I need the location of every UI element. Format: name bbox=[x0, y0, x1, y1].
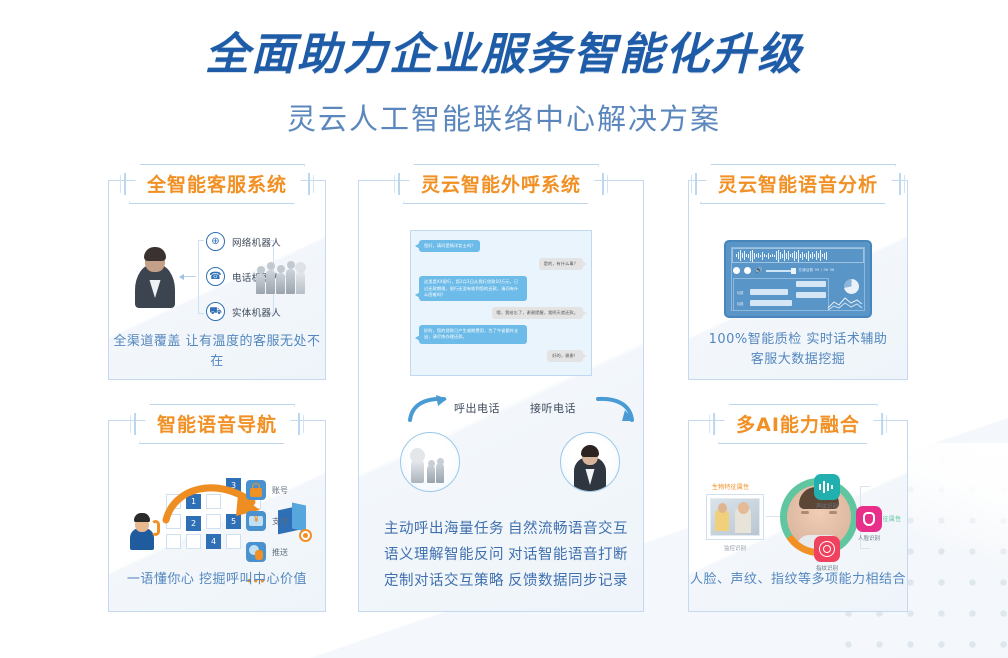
grid-node: 4 bbox=[206, 534, 221, 549]
telephone-icon: ☎ bbox=[206, 267, 225, 286]
globe-icon: ⊕ bbox=[206, 232, 225, 251]
inbound-arrow-icon bbox=[592, 394, 636, 422]
play-button[interactable] bbox=[733, 267, 740, 274]
chat-bubble: 这里是XX银行，您2月1日从我行贷款10万元，已过还款期限，银行还没有收到您的还… bbox=[419, 276, 527, 301]
chat-bubble: 您好，请问是杨洋女士吗？ bbox=[419, 240, 480, 252]
card-multi-ai[interactable]: 多AI能力融合 生物特征属性 监控识别 生物特征属性 bbox=[688, 420, 908, 612]
card-title-badge-group: 多AI能力融合 bbox=[709, 404, 887, 444]
chat-bubble: 好的，谢谢！ bbox=[547, 350, 583, 362]
feature-item: 对话智能语音打断 bbox=[506, 542, 630, 568]
card-outbound-call[interactable]: 灵云智能外呼系统 您好，请问是杨洋女士吗？ 是的，有什么事？ 这里是XX银行，您… bbox=[358, 180, 644, 612]
robot-agent-avatar bbox=[400, 432, 460, 492]
voiceprint-icon[interactable] bbox=[814, 474, 840, 500]
left-bracket bbox=[198, 240, 204, 314]
arrow-to-agent bbox=[180, 276, 196, 277]
page-subtitle: 灵云人工智能联络中心解决方案 bbox=[0, 96, 1008, 138]
line-chart bbox=[827, 295, 863, 311]
feature-item: 主动呼出海量任务 bbox=[382, 516, 506, 542]
row-label: 标题 bbox=[737, 301, 743, 306]
card-caption: 一语懂你心 挖掘呼叫中心价值 bbox=[108, 570, 326, 590]
card-caption: 人脸、声纹、指纹等多项能力相结合 bbox=[688, 570, 908, 590]
player-controls[interactable]: 🔊 总通话数 99 / 98 96 bbox=[733, 267, 834, 274]
analysis-result-list: 标题 标题 bbox=[733, 278, 829, 311]
page-title: 全面助力企业服务智能化升级 bbox=[0, 18, 1008, 82]
card-voice-analysis[interactable]: 灵云智能语音分析 bbox=[688, 180, 908, 380]
robot-label-physical: 实体机器人 bbox=[232, 305, 281, 319]
feature-item: 反馈数据同步记录 bbox=[506, 568, 630, 594]
connector-line bbox=[766, 516, 780, 517]
poster-root: 全面助力企业服务智能化升级 灵云人工智能联络中心解决方案 全智能客服系统 bbox=[0, 0, 1008, 658]
pie-chart bbox=[844, 279, 859, 294]
lock-icon bbox=[246, 480, 266, 500]
volume-slider[interactable] bbox=[766, 270, 794, 272]
card-caption: 全渠道覆盖 让有温度的客服无处不在 bbox=[108, 332, 326, 372]
row-bar bbox=[796, 292, 826, 298]
card-voice-navigation[interactable]: 智能语音导航 1 3 2 5 4 bbox=[108, 420, 326, 612]
caption-line: 客服大数据挖掘 bbox=[688, 350, 908, 370]
feature-list-outbound: 主动呼出海量任务 语义理解智能反问 定制对话交互策略 bbox=[382, 516, 506, 594]
row-bar bbox=[750, 289, 788, 295]
analysis-charts bbox=[827, 278, 863, 311]
card-smart-service[interactable]: 全智能客服系统 ⊕ 网络机器人 ☎ 电话机器人 ⛟ 实体机器人 bbox=[108, 180, 326, 380]
chat-bubble: 好的，您的贷款已产生逾期费用，为了今省额外支出，请尽快办理还款。 bbox=[419, 325, 527, 343]
customer-service-agent-illustration bbox=[132, 246, 178, 308]
card-title: 灵云智能外呼系统 bbox=[403, 164, 599, 204]
card-caption: 100%智能质检 实时话术辅助 客服大数据挖掘 bbox=[688, 330, 908, 370]
card-title-badge-group: 灵云智能外呼系统 bbox=[394, 164, 608, 204]
voice-analysis-panel[interactable]: 🔊 总通话数 99 / 98 96 标题 标题 bbox=[724, 240, 872, 318]
chat-bubble: 是的，有什么事？ bbox=[539, 258, 583, 270]
card-title-badge-group: 全智能客服系统 bbox=[120, 164, 314, 204]
call-direction-label-inbound: 接听电话 bbox=[530, 400, 576, 416]
robot-label-network: 网络机器人 bbox=[232, 235, 281, 249]
card-title: 全智能客服系统 bbox=[129, 164, 305, 204]
feature-item: 自然流畅语音交互 bbox=[506, 516, 630, 542]
chat-bubble: 哦，我给忘了，谢谢提醒，我明天就还款。 bbox=[492, 307, 583, 319]
service-icon-row-account[interactable]: 账号 bbox=[246, 480, 312, 500]
service-icon-row-payment[interactable]: ¥ 支付 bbox=[246, 511, 312, 531]
row-label: 标题 bbox=[737, 290, 743, 295]
volume-icon[interactable]: 🔊 bbox=[755, 267, 762, 274]
card-title: 智能语音导航 bbox=[139, 404, 295, 444]
robot-row-physical[interactable]: ⛟ 实体机器人 bbox=[206, 302, 281, 321]
face-icon[interactable] bbox=[856, 506, 882, 532]
caller-illustration bbox=[126, 508, 160, 550]
human-agent-avatar bbox=[560, 432, 620, 492]
row-bar bbox=[796, 281, 826, 287]
robot-row-network[interactable]: ⊕ 网络机器人 bbox=[206, 232, 281, 251]
caption-line: 100%智能质检 实时话术辅助 bbox=[688, 330, 908, 350]
photo-caption: 监控识别 bbox=[724, 544, 746, 552]
feature-item: 语义理解智能反问 bbox=[382, 542, 506, 568]
service-icon-label: 支付 bbox=[272, 516, 288, 527]
push-icon bbox=[246, 542, 266, 562]
chat-transcript: 您好，请问是杨洋女士吗？ 是的，有什么事？ 这里是XX银行，您2月1日从我行贷款… bbox=[410, 230, 592, 376]
outbound-arrow-icon bbox=[406, 394, 450, 422]
fingerprint-icon[interactable] bbox=[814, 536, 840, 562]
robot-crowd-illustration bbox=[254, 254, 310, 294]
audio-waveform[interactable] bbox=[732, 248, 864, 263]
card-title-badge-group: 灵云智能语音分析 bbox=[691, 164, 905, 204]
pause-button[interactable] bbox=[744, 267, 751, 274]
ai-capability-badges: 声纹识别 人脸识别 指纹识别 bbox=[808, 468, 892, 572]
feature-item: 定制对话交互策略 bbox=[382, 568, 506, 594]
badge-label: 声纹识别 bbox=[807, 502, 847, 510]
call-direction-label-outbound: 呼出电话 bbox=[454, 400, 500, 416]
input-attribute-label: 生物特征属性 bbox=[712, 482, 749, 491]
robot-icon: ⛟ bbox=[206, 302, 225, 321]
service-icon-label: 账号 bbox=[272, 485, 288, 496]
card-title: 灵云智能语音分析 bbox=[700, 164, 896, 204]
badge-label: 人脸识别 bbox=[849, 534, 889, 542]
feature-list-inbound: 自然流畅语音交互 对话智能语音打断 反馈数据同步记录 bbox=[506, 516, 630, 594]
payment-icon: ¥ bbox=[246, 511, 266, 531]
photo-detection-frame bbox=[706, 494, 764, 540]
card-title-badge-group: 智能语音导航 bbox=[130, 404, 304, 444]
service-icon-label: 推送 bbox=[272, 547, 288, 558]
card-title: 多AI能力融合 bbox=[718, 404, 878, 444]
row-bar bbox=[750, 300, 792, 306]
panel-meta-text: 总通话数 99 / 98 96 bbox=[798, 268, 834, 273]
call-direction-row: 呼出电话 接听电话 bbox=[358, 392, 644, 426]
service-icon-row-push[interactable]: 推送 bbox=[246, 542, 312, 562]
poster-header: 全面助力企业服务智能化升级 灵云人工智能联络中心解决方案 bbox=[0, 18, 1008, 138]
